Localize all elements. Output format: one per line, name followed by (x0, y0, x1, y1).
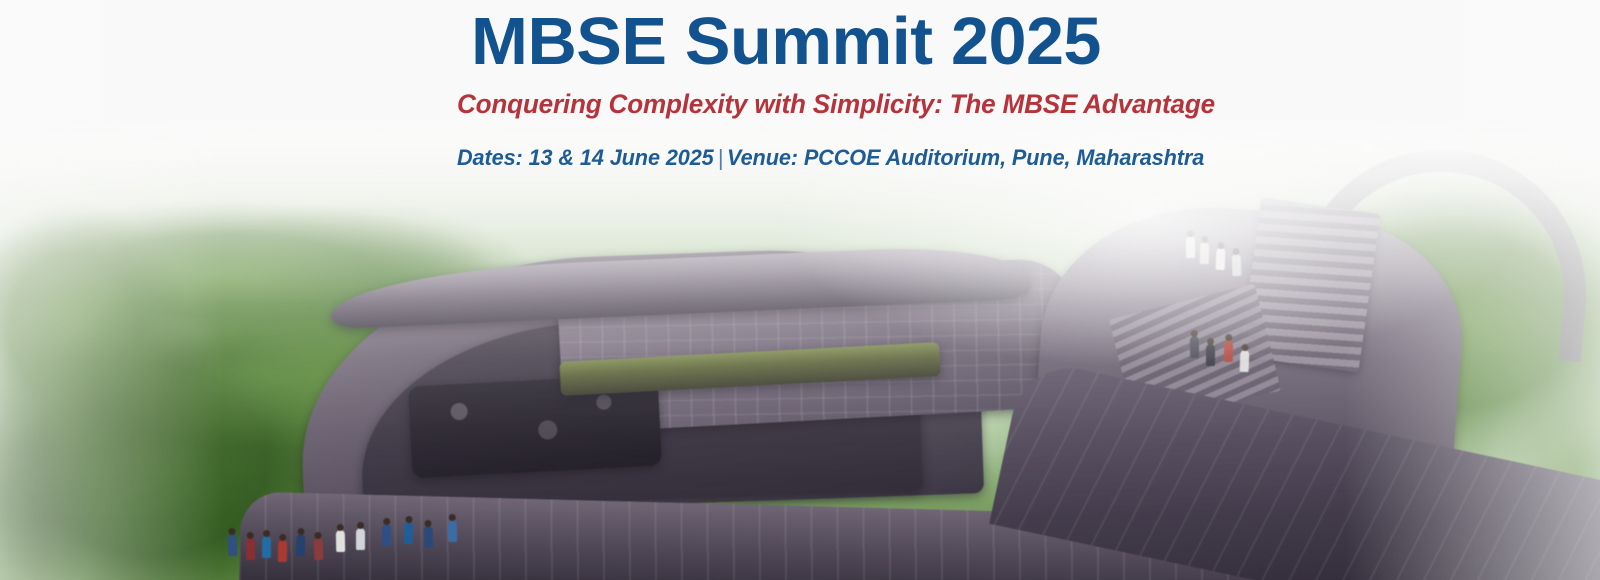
visitor-figure (1216, 248, 1226, 270)
event-tagline: Conquering Complexity with Simplicity: T… (457, 90, 1115, 119)
date-venue-separator: | (714, 145, 727, 170)
event-date-venue-line: Dates: 13 & 14 June 2025|Venue: PCCOE Au… (457, 146, 1115, 170)
visitor-figure (1186, 236, 1195, 258)
visitor-figure (1200, 242, 1209, 264)
visitor-figure (1206, 344, 1215, 366)
visitor-figure (1240, 350, 1250, 372)
mbse-summit-banner: MBSE Summit 2025 Conquering Complexity w… (0, 0, 1600, 580)
event-venue: Venue: PCCOE Auditorium, Pune, Maharasht… (727, 145, 1204, 170)
banner-text-block: MBSE Summit 2025 Conquering Complexity w… (452, 0, 1120, 170)
event-dates: Dates: 13 & 14 June 2025 (457, 145, 714, 170)
event-title: MBSE Summit 2025 (445, 0, 1126, 75)
foreground-grass (0, 460, 1600, 580)
visitor-figure (1190, 336, 1199, 358)
visitor-figure (1224, 340, 1233, 362)
visitor-figure (1232, 254, 1242, 276)
